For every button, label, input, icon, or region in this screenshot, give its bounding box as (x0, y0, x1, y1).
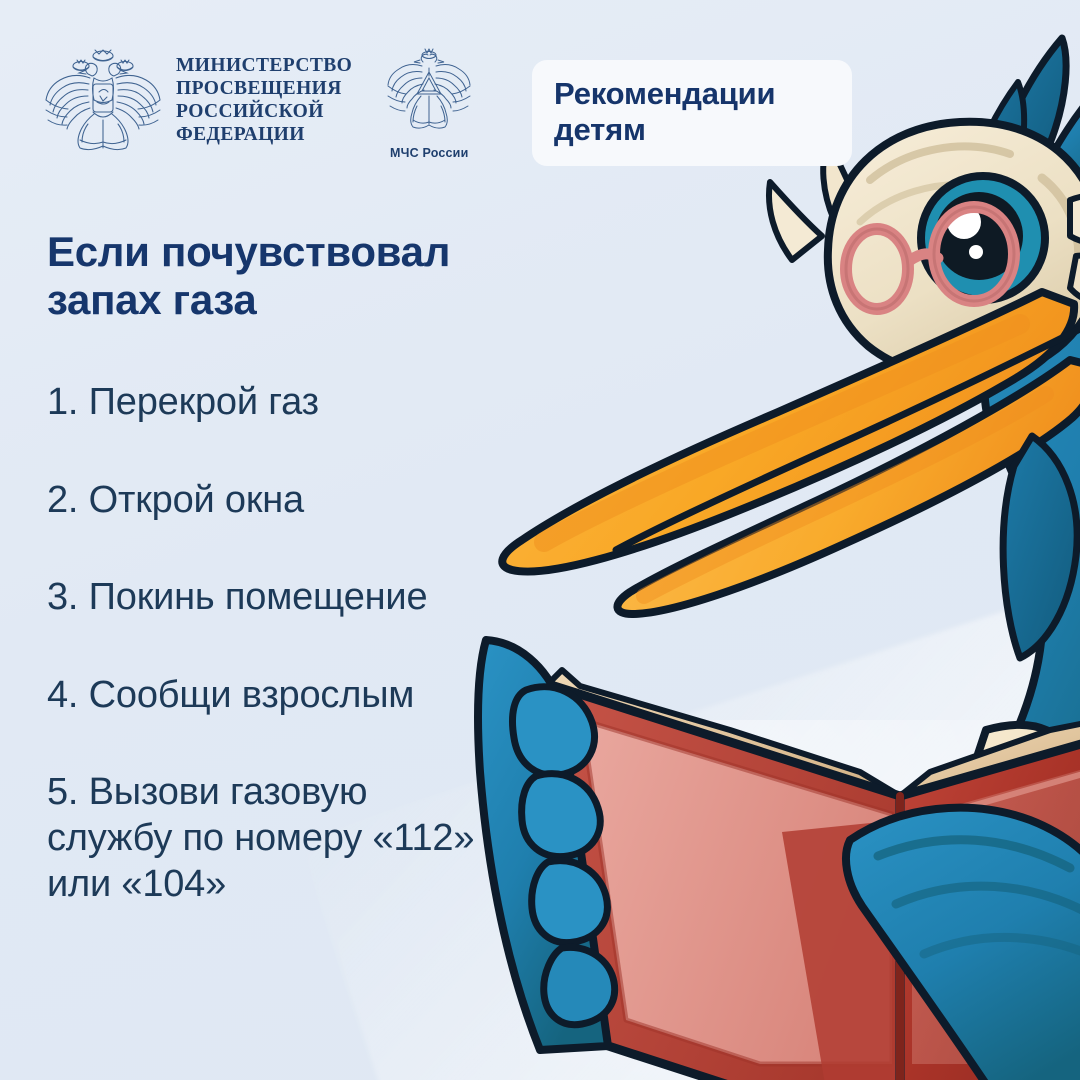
mchs-logo: МЧС России (386, 44, 472, 160)
mchs-label: МЧС России (390, 146, 468, 160)
ministry-name: МИНИСТЕРСТВО ПРОСВЕЩЕНИЯ РОССИЙСКОЙ ФЕДЕ… (176, 50, 352, 147)
header-logos: МИНИСТЕРСТВО ПРОСВЕЩЕНИЯ РОССИЙСКОЙ ФЕДЕ… (44, 44, 472, 160)
list-item: 5. Вызови газовую службу по номеру «112»… (47, 770, 607, 907)
badge-label: Рекомендации детям (554, 76, 830, 148)
list-item: 3. Покинь помещение (47, 575, 607, 621)
list-item: 2. Открой окна (47, 478, 607, 524)
page-title: Если почувствовал запах газа (47, 228, 567, 324)
ministry-of-education-logo: МИНИСТЕРСТВО ПРОСВЕЩЕНИЯ РОССИЙСКОЙ ФЕДЕ… (44, 44, 352, 152)
list-item: 4. Сообщи взрослым (47, 673, 607, 719)
double-headed-eagle-emblem-icon (44, 44, 162, 152)
poster-root: МИНИСТЕРСТВО ПРОСВЕЩЕНИЯ РОССИЙСКОЙ ФЕДЕ… (0, 0, 1080, 1080)
recommendations-badge: Рекомендации детям (532, 60, 852, 166)
list-item: 1. Перекрой газ (47, 380, 607, 426)
mchs-eagle-emblem-icon (386, 46, 472, 144)
steps-list: 1. Перекрой газ 2. Открой окна 3. Покинь… (47, 380, 607, 907)
